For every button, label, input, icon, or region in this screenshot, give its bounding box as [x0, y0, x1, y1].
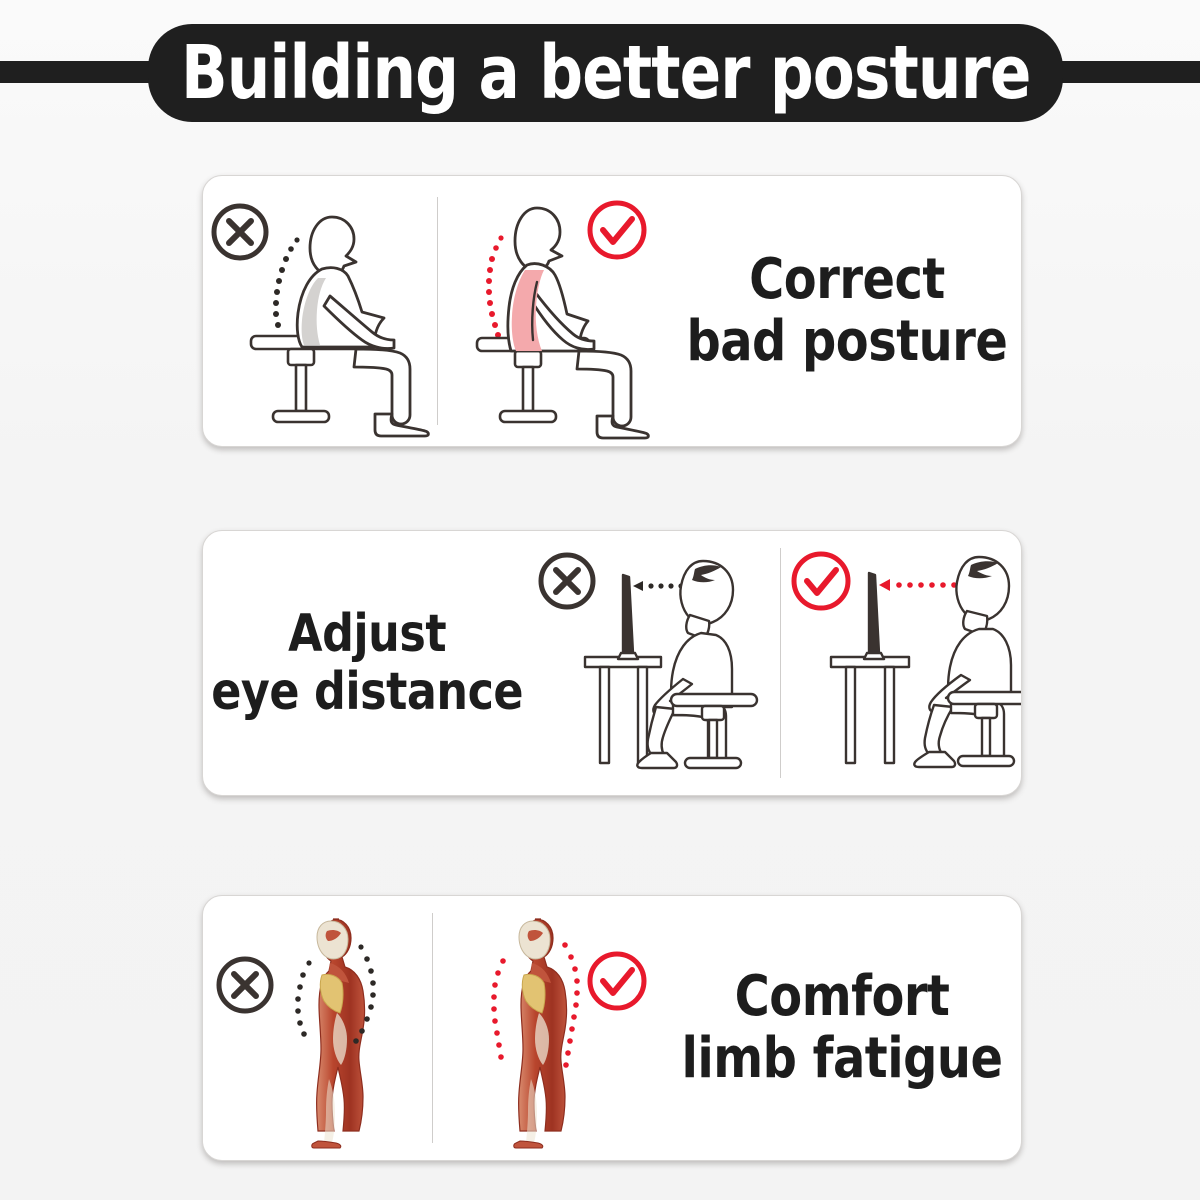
standing-muscle-anatomy-slouched — [205, 903, 431, 1153]
panel-3-bad-example — [203, 896, 432, 1160]
header-pill: Building a better posture — [148, 24, 1063, 122]
panel-adjust-eye-distance: Adjust eye distance — [202, 530, 1022, 796]
desk-monitor-hunched-figure — [533, 539, 779, 787]
check-circle-icon — [794, 554, 848, 608]
panel-1-bad-example — [203, 176, 437, 446]
panel-2-bad-example — [531, 531, 780, 795]
panel-1-good-example — [438, 176, 672, 446]
x-circle-icon — [214, 206, 266, 258]
panel-comfort-limb-fatigue: Comfort limb fatigue — [202, 895, 1022, 1161]
check-circle-icon — [590, 203, 644, 257]
panel-2-good-example — [781, 531, 1022, 795]
panel-1-caption-line-1: Correct — [749, 249, 945, 311]
muscle-figure — [513, 919, 566, 1148]
standing-muscle-anatomy-upright — [435, 903, 661, 1153]
long-red-dotted-arrow — [879, 579, 968, 591]
infographic-page: Building a better posture — [0, 0, 1200, 1200]
panel-2-caption-line-1: Adjust — [288, 605, 446, 663]
page-title: Building a better posture — [181, 35, 1031, 111]
panel-1-caption: Correct bad posture — [673, 176, 1021, 446]
chair-shape — [671, 694, 757, 768]
panel-2-illustrations — [531, 531, 1022, 795]
stool-shape — [251, 336, 361, 422]
x-circle-icon — [541, 555, 593, 607]
panel-3-caption-line-1: Comfort — [735, 966, 950, 1028]
x-circle-icon — [219, 959, 271, 1011]
panel-3-good-example — [433, 896, 662, 1160]
panel-3-caption-line-2: limb fatigue — [681, 1028, 1002, 1090]
header-band: Building a better posture — [0, 0, 1200, 150]
check-circle-icon — [590, 954, 644, 1008]
seated-upright-figure — [439, 186, 671, 436]
panel-1-caption-line-2: bad posture — [687, 311, 1008, 373]
chair-shape — [948, 692, 1022, 766]
monitor-shape — [618, 575, 638, 659]
seated-slouched-figure — [204, 186, 436, 436]
panel-2-caption-line-2: eye distance — [211, 663, 523, 721]
black-dotted-curved-spine — [273, 237, 300, 328]
body-outline — [914, 557, 1011, 767]
panel-3-illustrations — [203, 896, 663, 1160]
desk-monitor-upright-figure — [783, 539, 1022, 787]
panel-3-caption: Comfort limb fatigue — [663, 896, 1021, 1160]
desk-shape — [831, 657, 909, 763]
red-dotted-straight-spine — [486, 235, 504, 338]
muscle-figure — [311, 919, 364, 1148]
body-outline — [297, 217, 428, 436]
panel-2-caption: Adjust eye distance — [203, 531, 531, 795]
panel-1-illustrations — [203, 176, 673, 446]
panel-correct-bad-posture: Correct bad posture — [202, 175, 1022, 447]
